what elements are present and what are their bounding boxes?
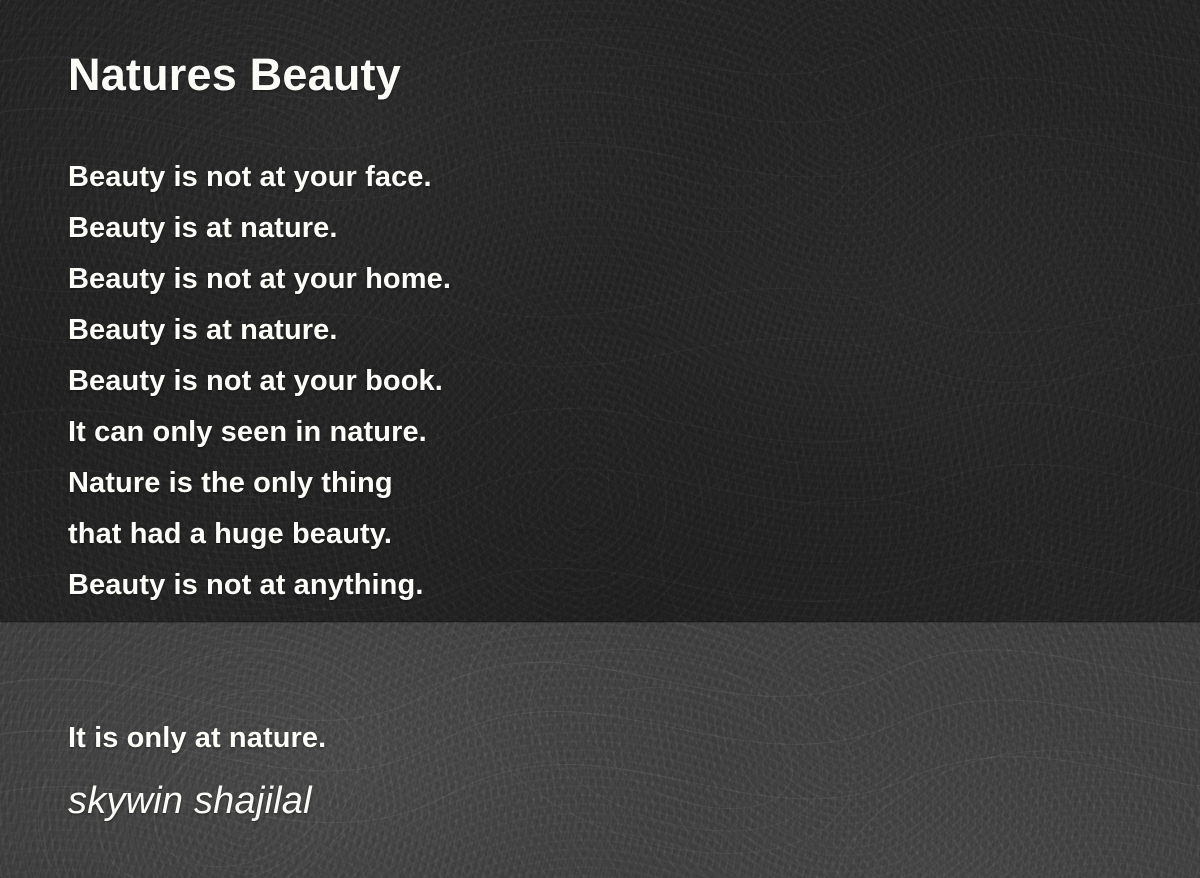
poem-author: skywin shajilal xyxy=(68,778,312,824)
poem-image-card: Natures Beauty Beauty is not at your fac… xyxy=(0,0,1200,878)
poem-line: that had a huge beauty. xyxy=(68,509,668,560)
poem-line-blank xyxy=(68,611,668,662)
poem-title: Natures Beauty xyxy=(68,50,401,100)
poem-line-spacer xyxy=(68,662,668,713)
poem-content: Natures Beauty Beauty is not at your fac… xyxy=(0,0,1200,878)
poem-line: Beauty is at nature. xyxy=(68,203,668,254)
poem-line: Nature is the only thing xyxy=(68,458,668,509)
poem-line: Beauty is not at your home. xyxy=(68,254,668,305)
poem-body: Beauty is not at your face. Beauty is at… xyxy=(68,152,668,764)
poem-line: Beauty is not at your book. xyxy=(68,356,668,407)
poem-line: It is only at nature. xyxy=(68,713,668,764)
poem-line: It can only seen in nature. xyxy=(68,407,668,458)
poem-line: Beauty is not at anything. xyxy=(68,560,668,611)
poem-line: Beauty is not at your face. xyxy=(68,152,668,203)
poem-line: Beauty is at nature. xyxy=(68,305,668,356)
